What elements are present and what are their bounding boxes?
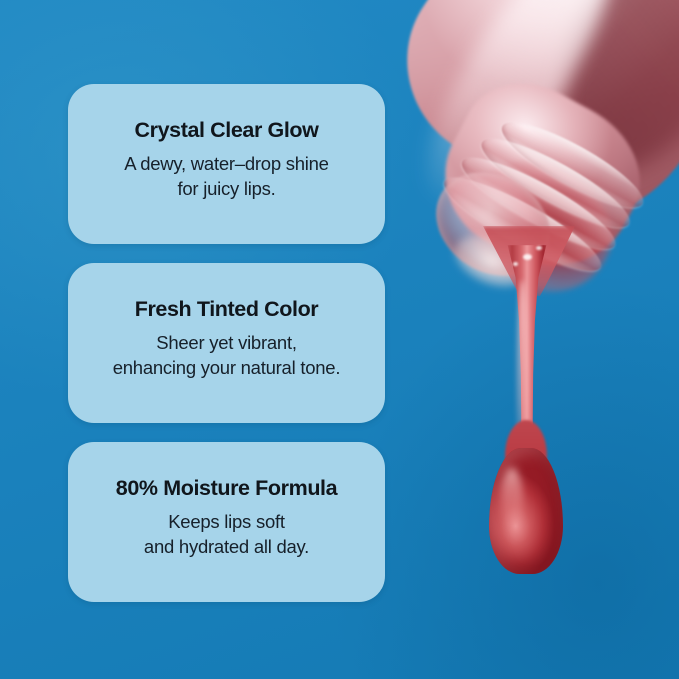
feature-card-title: Fresh Tinted Color <box>84 297 369 322</box>
specular-glint <box>536 246 542 250</box>
feature-card-fresh-tinted-color: Fresh Tinted Color Sheer yet vibrant, en… <box>68 263 385 423</box>
specular-glint <box>513 262 518 266</box>
feature-card-body: Sheer yet vibrant, enhancing your natura… <box>84 330 369 381</box>
product-photo <box>405 0 679 610</box>
teardrop-highlight <box>501 468 523 530</box>
product-feature-graphic: Crystal Clear Glow A dewy, water–drop sh… <box>0 0 679 679</box>
feature-card-body: Keeps lips soft and hydrated all day. <box>84 509 369 560</box>
feature-card-crystal-clear-glow: Crystal Clear Glow A dewy, water–drop sh… <box>68 84 385 244</box>
drip-teardrop <box>489 448 563 574</box>
specular-glint <box>523 254 532 260</box>
feature-card-list: Crystal Clear Glow A dewy, water–drop sh… <box>68 84 385 602</box>
feature-card-title: Crystal Clear Glow <box>84 118 369 143</box>
feature-card-title: 80% Moisture Formula <box>84 476 369 501</box>
feature-card-moisture-formula: 80% Moisture Formula Keeps lips soft and… <box>68 442 385 602</box>
feature-card-body: A dewy, water–drop shine for juicy lips. <box>84 151 369 202</box>
